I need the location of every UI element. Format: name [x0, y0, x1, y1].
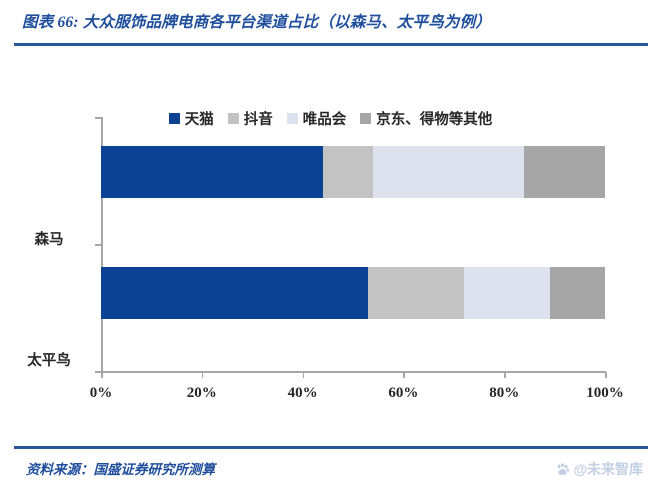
x-axis-tick-label: 20%	[167, 385, 237, 402]
y-axis-tick	[95, 244, 101, 246]
legend-label-tmall: 天猫	[185, 108, 214, 129]
legend-label-vip: 唯品会	[303, 108, 347, 129]
x-axis-tick-label: 100%	[570, 385, 640, 402]
y-axis-tick	[95, 117, 101, 119]
bar-row[interactable]	[101, 146, 605, 198]
bar-segment[interactable]	[101, 146, 323, 198]
x-axis-tick-label: 60%	[368, 385, 438, 402]
watermark-text: @未来智库	[573, 459, 643, 479]
legend-label-others: 京东、得物等其他	[376, 108, 492, 129]
legend-item-douyin[interactable]: 抖音	[228, 108, 273, 129]
x-axis-tick	[403, 372, 405, 378]
x-axis-tick	[202, 372, 204, 378]
legend-item-vip[interactable]: 唯品会	[287, 108, 347, 129]
x-axis-tick	[504, 372, 506, 378]
footer-divider	[14, 446, 648, 449]
x-axis-line	[101, 371, 606, 373]
legend-swatch-tmall	[169, 113, 180, 124]
x-axis-tick	[101, 372, 103, 378]
legend-swatch-others	[360, 113, 371, 124]
legend-label-douyin: 抖音	[244, 108, 273, 129]
chart-header: 图表 66: 大众服饰品牌电商各平台渠道占比（以森马、太平鸟为例）	[0, 0, 661, 52]
bar-segment[interactable]	[373, 146, 524, 198]
bar-segment[interactable]	[550, 267, 605, 319]
x-axis-tick-label: 80%	[469, 385, 539, 402]
bar-segment[interactable]	[524, 146, 605, 198]
page-title: 图表 66: 大众服饰品牌电商各平台渠道占比（以森马、太平鸟为例）	[22, 10, 491, 32]
x-axis-tick	[605, 372, 607, 378]
legend-item-tmall[interactable]: 天猫	[169, 108, 214, 129]
bar-row[interactable]	[101, 267, 605, 319]
chart-legend: 天猫 抖音 唯品会 京东、得物等其他	[0, 108, 661, 129]
source-note: 资料来源：国盛证券研究所测算	[26, 458, 215, 478]
legend-swatch-vip	[287, 113, 298, 124]
category-label-peacebird: 太平鸟	[6, 349, 92, 370]
bar-segment[interactable]	[323, 146, 373, 198]
stacked-bar-chart: 天猫 抖音 唯品会 京东、得物等其他 0%20%40%60%80%100% 森马…	[0, 52, 661, 432]
x-axis-tick-label: 40%	[268, 385, 338, 402]
legend-swatch-douyin	[228, 113, 239, 124]
bar-segment[interactable]	[101, 267, 368, 319]
category-label-senma: 森马	[6, 228, 92, 249]
watermark: @未来智库	[555, 459, 643, 479]
x-axis-tick	[303, 372, 305, 378]
legend-item-others[interactable]: 京东、得物等其他	[360, 108, 492, 129]
x-axis-tick-label: 0%	[66, 385, 136, 402]
paw-icon	[555, 462, 570, 477]
bar-segment[interactable]	[368, 267, 464, 319]
bar-segment[interactable]	[464, 267, 550, 319]
title-divider	[14, 43, 648, 46]
